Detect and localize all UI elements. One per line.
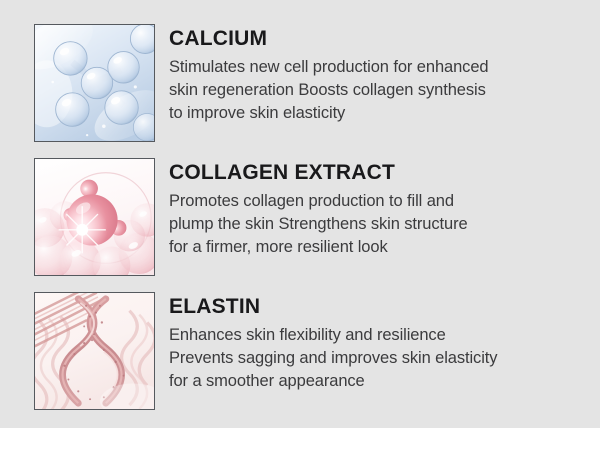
collagen-pink-bubbles-image xyxy=(34,158,155,276)
calcium-image-art xyxy=(35,25,154,141)
description-line: for a smoother appearance xyxy=(169,370,600,393)
ingredient-row-elastin: ELASTIN Enhances skin flexibility and re… xyxy=(0,292,600,410)
description-line: to improve skin elasticity xyxy=(169,102,600,125)
collagen-image-art xyxy=(35,159,154,275)
ingredient-name-calcium: CALCIUM xyxy=(169,28,600,50)
collagen-extract-copy: COLLAGEN EXTRACT Promotes collagen produ… xyxy=(155,158,600,258)
elastin-dna-helix-image xyxy=(34,292,155,410)
description-line: Enhances skin flexibility and resilience xyxy=(169,324,600,347)
ingredient-row-collagen-extract: COLLAGEN EXTRACT Promotes collagen produ… xyxy=(0,158,600,276)
ingredient-row-calcium: CALCIUM Stimulates new cell production f… xyxy=(0,24,600,142)
elastin-copy: ELASTIN Enhances skin flexibility and re… xyxy=(155,292,600,392)
calcium-copy: CALCIUM Stimulates new cell production f… xyxy=(155,24,600,124)
description-line: Promotes collagen production to fill and xyxy=(169,190,600,213)
description-line: for a firmer, more resilient look xyxy=(169,236,600,259)
calcium-molecule-bubbles-image xyxy=(34,24,155,142)
elastin-image-art xyxy=(35,293,154,409)
description-line: plump the skin Strengthens skin structur… xyxy=(169,213,600,236)
ingredient-name-collagen-extract: COLLAGEN EXTRACT xyxy=(169,162,600,184)
footer-white-strip xyxy=(0,428,600,450)
ingredient-benefits-panel: CALCIUM Stimulates new cell production f… xyxy=(0,0,600,428)
description-line: Prevents sagging and improves skin elast… xyxy=(169,347,600,370)
ingredient-description-elastin: Enhances skin flexibility and resilience… xyxy=(169,324,600,392)
description-line: Stimulates new cell production for enhan… xyxy=(169,56,600,79)
ingredient-name-elastin: ELASTIN xyxy=(169,296,600,318)
ingredient-description-calcium: Stimulates new cell production for enhan… xyxy=(169,56,600,124)
description-line: skin regeneration Boosts collagen synthe… xyxy=(169,79,600,102)
ingredient-description-collagen-extract: Promotes collagen production to fill and… xyxy=(169,190,600,258)
